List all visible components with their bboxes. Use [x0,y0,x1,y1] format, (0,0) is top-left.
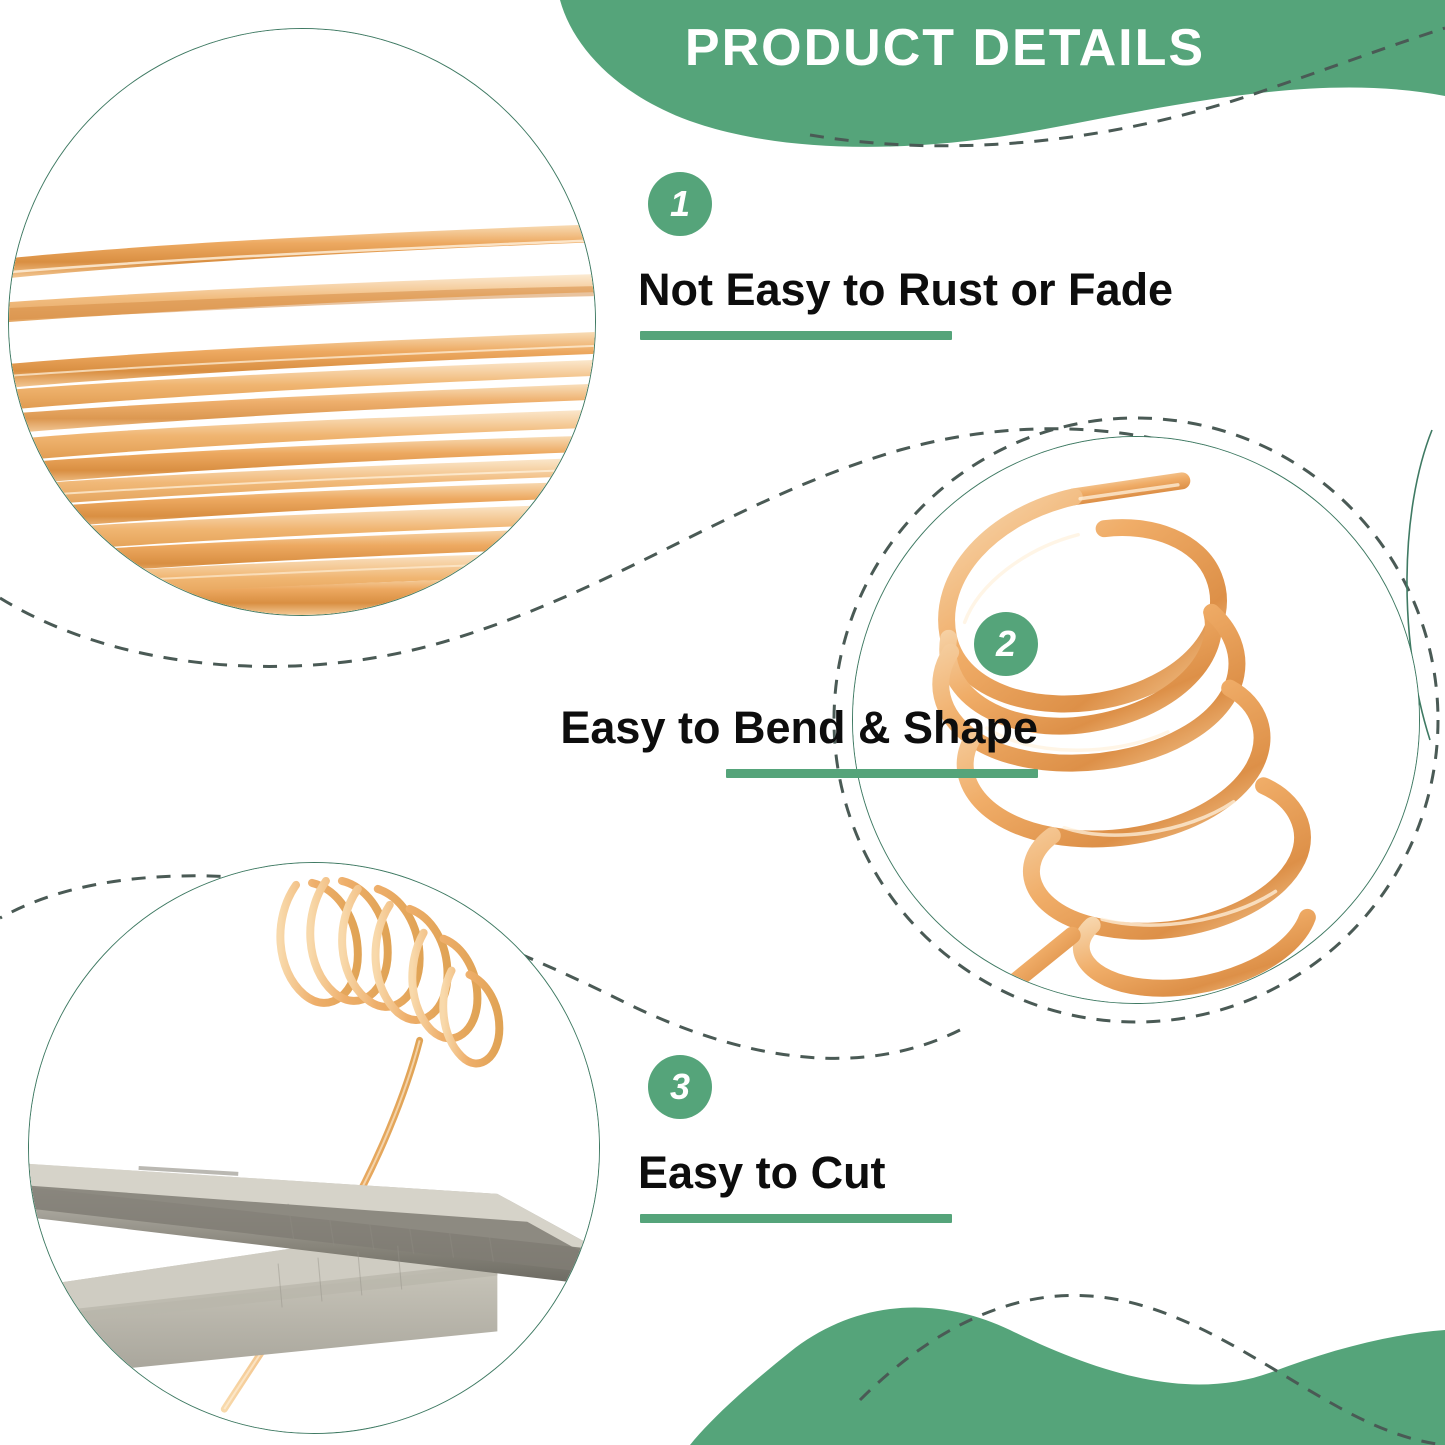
feature-number-badge-3: 3 [648,1055,712,1119]
feature-underline-3 [640,1214,952,1223]
feature-number-badge-2: 2 [974,612,1038,676]
feature-title-3: Easy to Cut [638,1149,1348,1196]
photo-copper-wire-coil [8,28,596,616]
feature-title-1: Not Easy to Rust or Fade [638,266,1348,313]
feature-block-1: 1 Not Easy to Rust or Fade [648,172,1348,340]
feature-block-2: 2 Easy to Bend & Shape [248,612,1038,778]
scissors-cutting-copper-wire-illustration [29,863,599,1433]
photo-copper-wire-being-cut [28,862,600,1434]
feature-title-2: Easy to Bend & Shape [560,704,1038,751]
dashed-curve-footer [860,1295,1445,1445]
feature-underline-1 [640,331,952,340]
product-details-infographic: PRODUCT DETAILS 1 Not Easy to Rust or Fa… [0,0,1445,1445]
feature-number-badge-1: 1 [648,172,712,236]
feature-block-3: 3 Easy to Cut [648,1055,1348,1223]
footer-green-wave [690,1308,1445,1445]
feature-underline-2 [726,769,1038,778]
copper-wire-strands-illustration [9,29,595,615]
page-title: PRODUCT DETAILS [625,10,1265,86]
